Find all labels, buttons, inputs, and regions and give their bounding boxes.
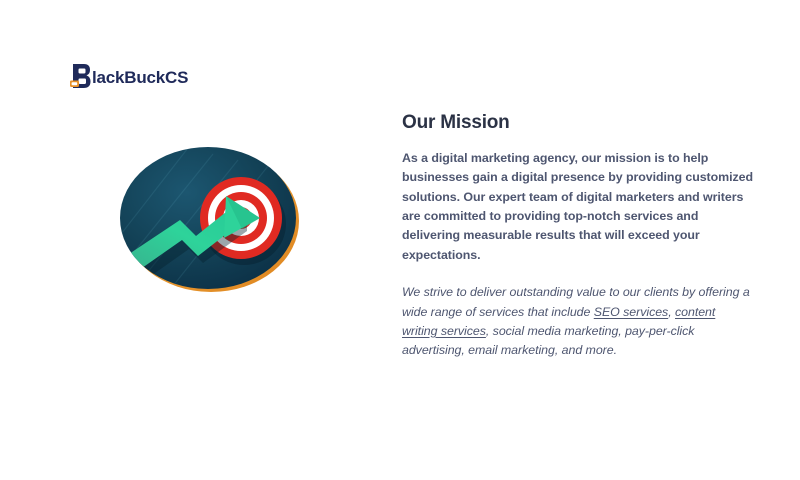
brand-logo[interactable]: lackBuckCS — [70, 61, 188, 93]
mission-paragraph-primary: As a digital marketing agency, our missi… — [402, 149, 754, 265]
services-separator: , — [668, 305, 675, 319]
brand-name-text: lackBuckCS — [92, 69, 188, 86]
seo-services-link[interactable]: SEO services — [594, 305, 668, 319]
mission-section: Our Mission As a digital marketing agenc… — [402, 112, 754, 361]
target-growth-arrow-icon — [118, 146, 300, 292]
mission-paragraph-services: We strive to deliver outstanding value t… — [402, 283, 754, 361]
blackbuckcs-b-monogram-icon — [70, 62, 92, 92]
page-title: Our Mission — [402, 112, 754, 135]
